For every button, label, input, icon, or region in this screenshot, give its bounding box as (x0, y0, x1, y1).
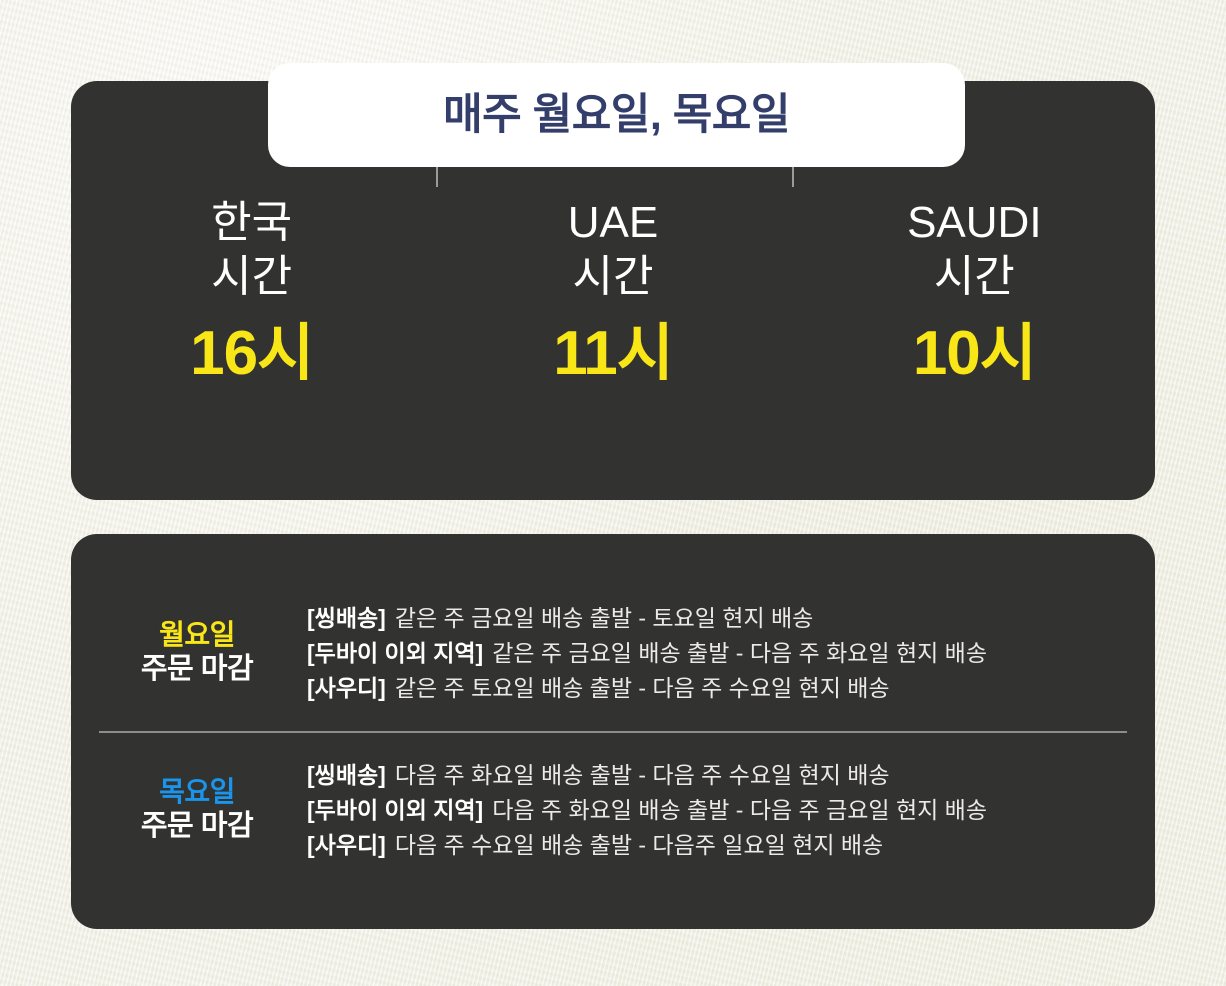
schedule-line: [씽배송]다음 주 화요일 배송 출발 - 다음 주 수요일 현지 배송 (307, 763, 1127, 787)
schedule-lines-thursday: [씽배송]다음 주 화요일 배송 출발 - 다음 주 수요일 현지 배송 [두바… (297, 763, 1127, 857)
title-card: 매주 월요일, 목요일 (268, 63, 965, 167)
schedule-line-body: 다음 주 화요일 배송 출발 - 다음 주 금요일 현지 배송 (492, 797, 987, 823)
time-region-name-uae: UAE (568, 198, 658, 247)
schedule-cutoff-monday: 주문 마감 (97, 653, 297, 687)
time-region-sub-uae: 시간 (568, 250, 658, 304)
schedule-group-thursday: 목요일 주문 마감 [씽배송]다음 주 화요일 배송 출발 - 다음 주 수요일… (71, 733, 1155, 888)
time-value-uae: 11시 (553, 323, 673, 385)
schedule-line: [사우디]같은 주 토요일 배송 출발 - 다음 주 수요일 현지 배송 (307, 676, 1127, 700)
schedule-line-body: 다음 주 화요일 배송 출발 - 다음 주 수요일 현지 배송 (395, 762, 890, 788)
schedule-line-body: 같은 주 금요일 배송 출발 - 토요일 현지 배송 (395, 605, 814, 631)
time-region-sub-korea: 시간 (211, 250, 292, 304)
schedule-line: [씽배송]같은 주 금요일 배송 출발 - 토요일 현지 배송 (307, 606, 1127, 630)
schedule-line-tag: [두바이 이외 지역] (307, 797, 483, 823)
time-value-saudi: 10시 (913, 323, 1036, 385)
time-column-korea: 한국 시간 16시 (71, 196, 432, 385)
schedule-line-tag: [사우디] (307, 832, 386, 858)
time-region-label-uae: UAE 시간 (568, 196, 658, 303)
schedule-day-thursday: 목요일 (97, 776, 297, 808)
time-region-label-saudi: SAUDI 시간 (907, 196, 1041, 303)
schedule-label-monday: 월요일 주문 마감 (97, 619, 297, 687)
time-column-saudi: SAUDI 시간 10시 (794, 196, 1155, 385)
time-region-label-korea: 한국 시간 (211, 196, 292, 303)
time-value-korea: 16시 (190, 323, 313, 385)
time-region-name-saudi: SAUDI (907, 198, 1041, 247)
schedule-line-tag: [두바이 이외 지역] (307, 640, 483, 666)
time-region-name-korea: 한국 (211, 198, 292, 247)
schedule-line-body: 같은 주 토요일 배송 출발 - 다음 주 수요일 현지 배송 (395, 675, 890, 701)
schedule-line-tag: [씽배송] (307, 605, 386, 631)
schedule-line: [두바이 이외 지역]다음 주 화요일 배송 출발 - 다음 주 금요일 현지 … (307, 798, 1127, 822)
schedule-panel: 월요일 주문 마감 [씽배송]같은 주 금요일 배송 출발 - 토요일 현지 배… (71, 534, 1155, 929)
schedule-label-thursday: 목요일 주문 마감 (97, 776, 297, 844)
time-column-uae: UAE 시간 11시 (432, 196, 793, 385)
time-region-sub-saudi: 시간 (907, 250, 1041, 304)
schedule-line: [두바이 이외 지역]같은 주 금요일 배송 출발 - 다음 주 화요일 현지 … (307, 641, 1127, 665)
schedule-line-body: 같은 주 금요일 배송 출발 - 다음 주 화요일 현지 배송 (492, 640, 987, 666)
schedule-group-monday: 월요일 주문 마감 [씽배송]같은 주 금요일 배송 출발 - 토요일 현지 배… (71, 576, 1155, 731)
page-title: 매주 월요일, 목요일 (443, 94, 790, 137)
schedule-line-body: 다음 주 수요일 배송 출발 - 다음주 일요일 현지 배송 (395, 832, 883, 858)
infographic-stage: 매주 월요일, 목요일 한국 시간 16시 UAE 시간 11시 SAUDI 시… (0, 0, 1226, 986)
time-columns: 한국 시간 16시 UAE 시간 11시 SAUDI 시간 10시 (71, 196, 1155, 456)
schedule-line-tag: [사우디] (307, 675, 386, 701)
schedule-line-tag: [씽배송] (307, 762, 386, 788)
schedule-line: [사우디]다음 주 수요일 배송 출발 - 다음주 일요일 현지 배송 (307, 833, 1127, 857)
schedule-cutoff-thursday: 주문 마감 (97, 810, 297, 844)
schedule-day-monday: 월요일 (97, 619, 297, 651)
schedule-lines-monday: [씽배송]같은 주 금요일 배송 출발 - 토요일 현지 배송 [두바이 이외 … (297, 606, 1127, 700)
